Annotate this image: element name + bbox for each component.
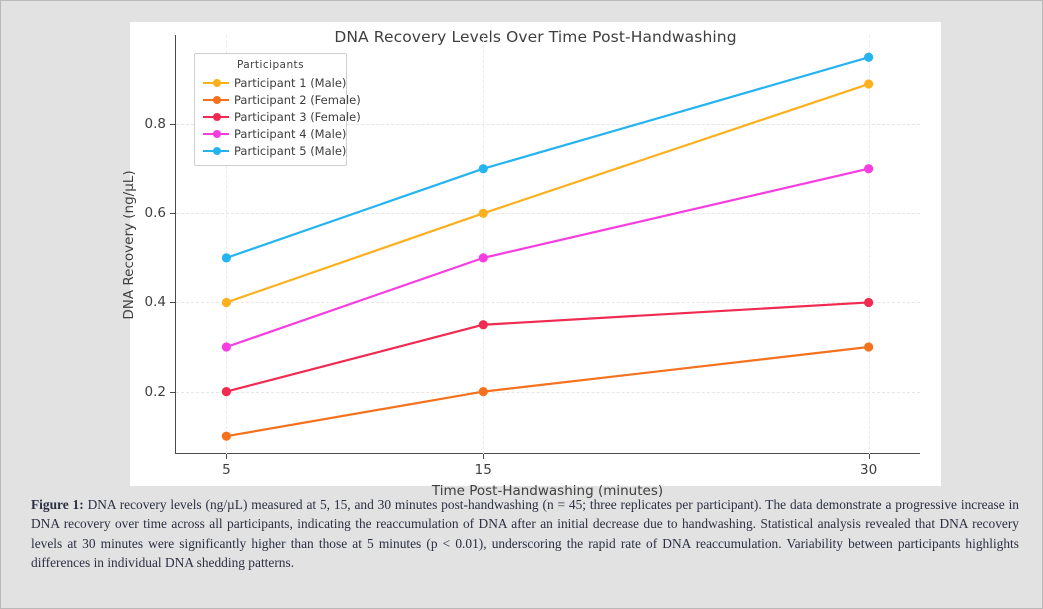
legend-item-label: Participant 2 (Female) <box>234 93 361 107</box>
data-point-marker <box>222 253 231 262</box>
data-point-marker <box>222 432 231 441</box>
chart-legend: Participants Participant 1 (Male)Partici… <box>194 53 347 166</box>
data-point-marker <box>864 79 873 88</box>
x-tick-label: 30 <box>860 462 877 478</box>
data-point-marker <box>479 387 488 396</box>
data-point-marker <box>222 298 231 307</box>
y-tick-label: 0.4 <box>145 294 166 310</box>
legend-item-label: Participant 3 (Female) <box>234 110 361 124</box>
data-point-marker <box>479 320 488 329</box>
series-group <box>222 298 873 396</box>
figure-page: DNA Recovery Levels Over Time Post-Handw… <box>0 0 1043 609</box>
figure-caption-text: DNA recovery levels (ng/µL) measured at … <box>31 497 1019 570</box>
data-point-marker <box>864 298 873 307</box>
series-group <box>222 342 873 440</box>
y-tick-label: 0.6 <box>145 205 166 221</box>
data-point-marker <box>479 164 488 173</box>
figure-caption: Figure 1: DNA recovery levels (ng/µL) me… <box>31 495 1019 573</box>
legend-title: Participants <box>203 59 338 71</box>
data-point-marker <box>479 253 488 262</box>
data-point-marker <box>864 164 873 173</box>
legend-swatch-icon <box>203 77 229 89</box>
legend-item: Participant 4 (Male) <box>203 125 338 142</box>
data-point-marker <box>864 53 873 62</box>
legend-swatch-icon <box>203 145 229 157</box>
legend-item-label: Participant 1 (Male) <box>234 76 346 90</box>
data-point-marker <box>864 342 873 351</box>
y-tick-label: 0.2 <box>145 384 166 400</box>
y-axis-label: DNA Recovery (ng/µL) <box>121 95 137 395</box>
series-line <box>226 347 868 436</box>
chart-panel: DNA Recovery Levels Over Time Post-Handw… <box>130 22 941 486</box>
legend-item-label: Participant 4 (Male) <box>234 127 346 141</box>
legend-item-label: Participant 5 (Male) <box>234 144 346 158</box>
data-point-marker <box>479 209 488 218</box>
legend-item: Participant 2 (Female) <box>203 91 338 108</box>
legend-swatch-icon <box>203 111 229 123</box>
legend-swatch-icon <box>203 94 229 106</box>
x-tick-label: 15 <box>475 462 492 478</box>
legend-item: Participant 1 (Male) <box>203 74 338 91</box>
data-point-marker <box>222 342 231 351</box>
data-point-marker <box>222 387 231 396</box>
series-line <box>226 302 868 391</box>
y-tick-label: 0.8 <box>145 116 166 132</box>
legend-item: Participant 5 (Male) <box>203 142 338 159</box>
x-tick-mark <box>483 454 484 459</box>
x-tick-mark <box>226 454 227 459</box>
x-tick-mark <box>869 454 870 459</box>
figure-caption-label: Figure 1: <box>31 497 84 512</box>
x-tick-label: 5 <box>222 462 231 478</box>
legend-swatch-icon <box>203 128 229 140</box>
legend-rows: Participant 1 (Male)Participant 2 (Femal… <box>203 74 338 159</box>
legend-item: Participant 3 (Female) <box>203 108 338 125</box>
